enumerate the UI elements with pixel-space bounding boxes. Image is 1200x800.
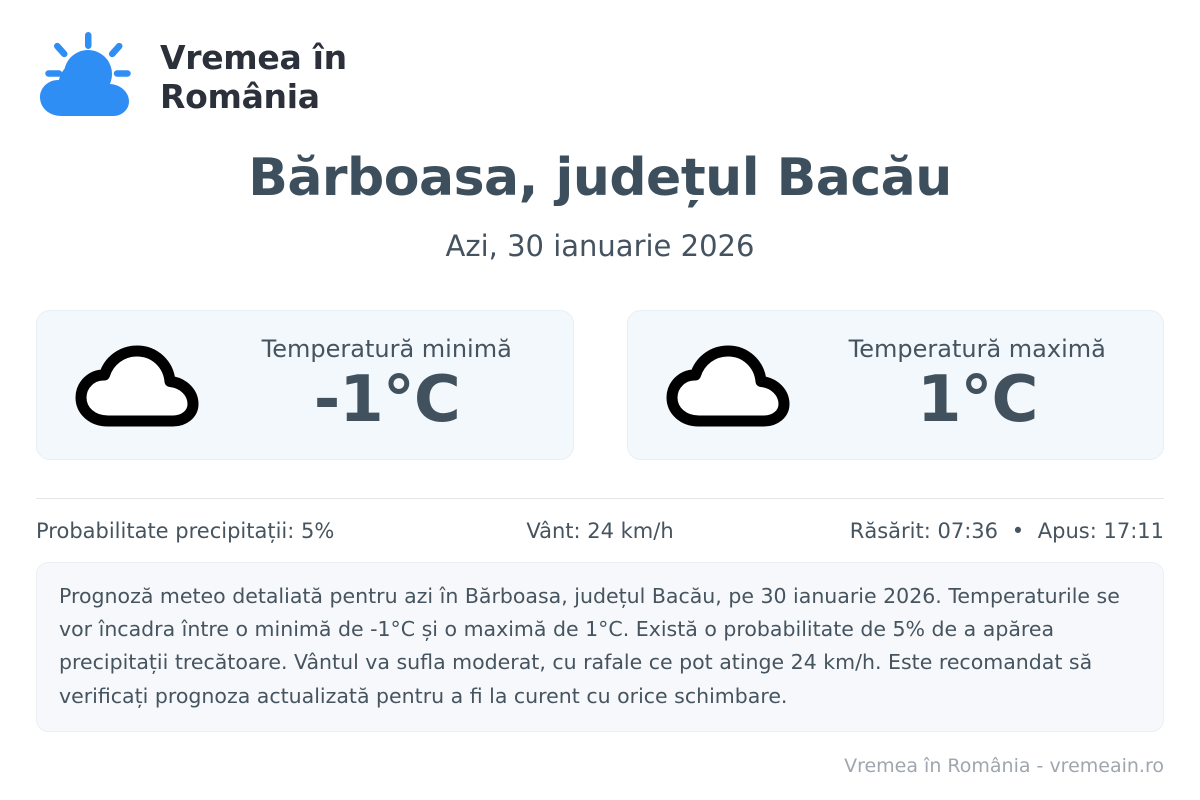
brand-name: Vremea în România [160, 39, 347, 117]
min-temperature-label: Temperatură minimă [262, 336, 512, 362]
stats-row: Probabilitate precipitații: 5% Vânt: 24 … [36, 519, 1164, 543]
weather-page: Vremea în România Bărboasa, județul Bacă… [0, 0, 1200, 800]
page-subtitle: Azi, 30 ianuarie 2026 [36, 229, 1164, 264]
min-temperature-value: -1°C [314, 367, 460, 434]
cloud-icon [666, 342, 790, 428]
forecast-description: Prognoză meteo detaliată pentru azi în B… [36, 562, 1164, 732]
min-temperature-card: Temperatură minimă -1°C [36, 310, 574, 460]
max-temperature-card: Temperatură maximă 1°C [627, 310, 1165, 460]
sun-times-stat: Răsărit: 07:36 • Apus: 17:11 [788, 519, 1164, 543]
cloud-icon [75, 342, 199, 428]
sun-separator: • [1005, 519, 1031, 543]
max-temperature-label: Temperatură maximă [849, 336, 1106, 362]
min-temperature-body: Temperatură minimă -1°C [225, 336, 573, 434]
wind-stat: Vânt: 24 km/h [412, 519, 788, 543]
brand-header[interactable]: Vremea în România [36, 0, 1164, 110]
precipitation-stat: Probabilitate precipitații: 5% [36, 519, 412, 543]
sun-behind-cloud-icon [36, 30, 140, 126]
title-block: Bărboasa, județul Bacău Azi, 30 ianuarie… [36, 150, 1164, 264]
temperature-cards: Temperatură minimă -1°C Temperatură maxi… [36, 310, 1164, 460]
sunset-value: Apus: 17:11 [1038, 519, 1164, 543]
max-temperature-body: Temperatură maximă 1°C [816, 336, 1164, 434]
max-temperature-value: 1°C [917, 367, 1038, 434]
page-title: Bărboasa, județul Bacău [36, 150, 1164, 207]
stats-divider [36, 498, 1164, 499]
footer-credit: Vremea în România - vremeain.ro [844, 755, 1164, 777]
sunrise-value: Răsărit: 07:36 [850, 519, 998, 543]
